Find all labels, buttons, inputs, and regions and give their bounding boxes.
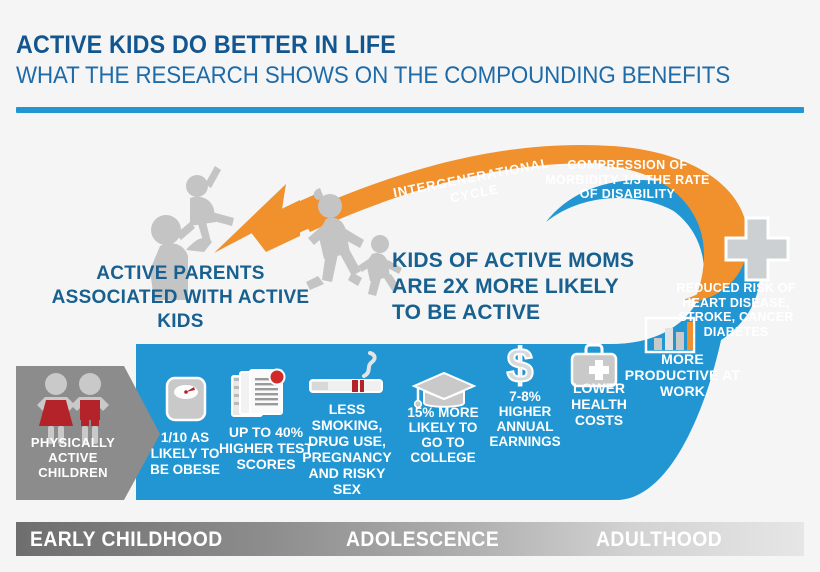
callout-reduced-risk: REDUCED RISK OF HEART DISEASE, STROKE, C… [662, 281, 810, 339]
svg-text:$: $ [507, 340, 534, 393]
notebooks-grade-icon [232, 370, 285, 417]
callout-active-parents: ACTIVE PARENTS ASSOCIATED WITH ACTIVE KI… [48, 262, 313, 334]
benefit-label-earnings: 7-8% HIGHER ANNUAL EARNINGS [486, 389, 564, 449]
timeline-stage-adulthood: ADULTHOOD [596, 528, 722, 552]
callout-kids-of-active-moms: KIDS OF ACTIVE MOMS ARE 2X MORE LIKELY T… [392, 248, 642, 326]
dollar-sign-icon: $ [507, 340, 534, 393]
benefit-label-more-productive: MORE PRODUCTIVE AT WORK [620, 351, 745, 399]
benefit-label-college: 15% MORE LIKELY TO GO TO COLLEGE [400, 405, 486, 465]
timeline-stage-adolescence: ADOLESCENCE [346, 528, 499, 552]
physically-active-children-label: PHYSICALLY ACTIVE CHILDREN [18, 435, 128, 480]
infographic-canvas: ACTIVE KIDS DO BETTER IN LIFE WHAT THE R… [0, 0, 820, 572]
benefit-label-obese: 1/10 AS LIKELY TO BE OBESE [142, 430, 228, 478]
benefit-label-health-costs: LOWER HEALTH COSTS [560, 380, 638, 428]
callout-compression-of-morbidity: COMPRESSION OF MORBIDITY 1/3 THE RATE OF… [545, 158, 710, 202]
bathroom-scale-icon [167, 378, 205, 420]
timeline-bar: EARLY CHILDHOOD ADOLESCENCE ADULTHOOD [16, 522, 804, 556]
timeline-stage-early-childhood: EARLY CHILDHOOD [30, 528, 223, 552]
benefit-label-risky-behaviour: LESS SMOKING, DRUG USE, PREGNANCY AND RI… [294, 401, 400, 497]
